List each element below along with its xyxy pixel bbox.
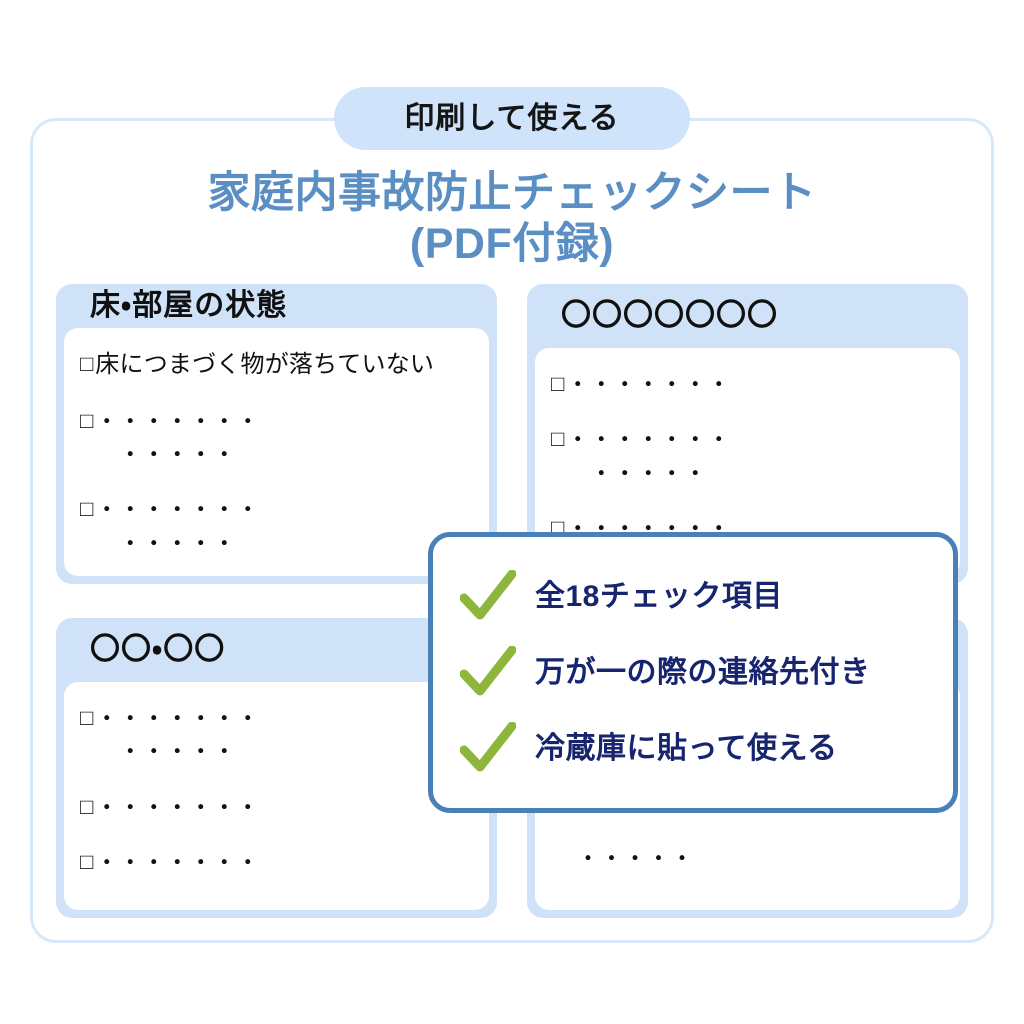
page-title-line1: 家庭内事故防止チェックシート [0,168,1024,219]
print-badge: 印刷して使える [334,87,690,150]
check-mark-icon [459,569,517,625]
list-item[interactable]: ・・・・・ [551,842,944,875]
checkbox-icon[interactable]: □ [80,791,93,823]
page-title-line2: (PDF付録) [0,219,1024,270]
list-item-label: ・・・・・・・ ・・・・・ [95,493,260,560]
list-item[interactable]: □ ・・・・・・・ [80,846,473,879]
list-item[interactable]: □ ・・・・・・・ ・・・・・ [551,423,944,490]
page-title: 家庭内事故防止チェックシート (PDF付録) [0,168,1024,269]
checkbox-icon[interactable]: □ [80,405,93,437]
list-item[interactable]: □ ・・・・・・・ ・・・・・ [80,405,473,472]
checkbox-icon[interactable]: □ [551,423,564,455]
card-2-header: 〇〇〇〇〇〇〇 [527,284,968,348]
checkbox-icon[interactable]: □ [80,493,93,525]
list-item[interactable]: □ ・・・・・・・ [80,791,473,824]
card-3-body: □ ・・・・・・・ ・・・・・ □ ・・・・・・・ □ ・・・・・・・ [64,682,489,910]
checkbox-icon[interactable]: □ [551,368,564,400]
list-item-label: ・・・・・・・ [95,846,260,879]
checklist-card-1: 床・部屋の状態 □ 床につまづく物が落ちていない □ ・・・・・・・ ・・・・・… [56,284,497,584]
card-2-header-label: 〇〇〇〇〇〇〇 [561,301,778,331]
feature-callout-label-1: 全18チェック項目 [535,582,783,612]
feature-callout-row-1: 全18チェック項目 [459,559,931,635]
checkbox-icon[interactable]: □ [80,846,93,878]
poster-canvas: 印刷して使える 家庭内事故防止チェックシート (PDF付録) 床・部屋の状態 □… [0,0,1024,1024]
feature-callout-row-3: 冷蔵庫に貼って使える [459,711,931,787]
checkbox-icon[interactable]: □ [80,702,93,734]
list-item-label: ・・・・・・・ ・・・・・ [95,702,260,769]
list-item[interactable]: □ ・・・・・・・ [551,368,944,401]
feature-callout-label-2: 万が一の際の連絡先付き [535,658,871,688]
feature-callout-label-3: 冷蔵庫に貼って使える [535,734,838,764]
card-1-header: 床・部屋の状態 [56,284,497,328]
check-mark-icon [459,721,517,777]
feature-callout-row-2: 万が一の際の連絡先付き [459,635,931,711]
checkbox-icon[interactable]: □ [80,348,93,380]
card-3-header-label: 〇〇・〇〇 [90,635,225,665]
list-item[interactable]: □ ・・・・・・・ ・・・・・ [80,702,473,769]
print-badge-label: 印刷して使える [404,104,619,134]
list-item-label: ・・・・・・・ ・・・・・ [95,405,260,472]
list-item-label: ・・・・・・・ ・・・・・ [566,423,731,490]
check-mark-icon [459,645,517,701]
list-item-label: ・・・・・・・ [95,791,260,824]
feature-callout: 全18チェック項目 万が一の際の連絡先付き 冷蔵庫に貼って使える [428,532,958,813]
list-item[interactable]: □ 床につまづく物が落ちていない [80,348,473,383]
list-item-label: 床につまづく物が落ちていない [95,348,434,383]
card-1-header-label: 床・部屋の状態 [90,291,287,321]
list-item-label: ・・・・・・・ [566,368,731,401]
card-1-body: □ 床につまづく物が落ちていない □ ・・・・・・・ ・・・・・ □ ・・・・・… [64,328,489,576]
list-item-label: ・・・・・ [553,842,694,875]
list-item[interactable]: □ ・・・・・・・ ・・・・・ [80,493,473,560]
